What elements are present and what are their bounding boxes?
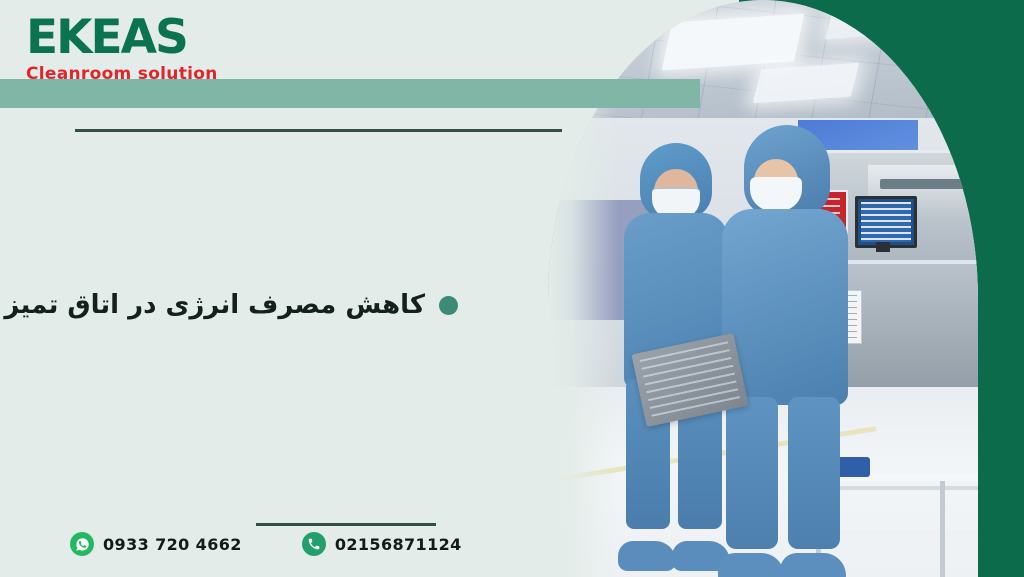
footer-contacts: 0933 720 4662 02156871124 <box>70 532 540 556</box>
worker-shoe-cover <box>780 553 846 577</box>
header-divider-rule <box>75 129 562 132</box>
bench-leg <box>940 481 945 577</box>
page-title: کاهش مصرف انرژی در اتاق تمیز <box>28 286 458 324</box>
poster-canvas: EKEAS Cleanroom solution کاهش مصرف انرژی… <box>0 0 1024 577</box>
logo-wordmark: EKEAS <box>26 14 256 61</box>
ceiling-light <box>662 14 805 71</box>
worker-leg <box>788 397 840 549</box>
phone-number: 02156871124 <box>335 535 462 554</box>
footer-divider-rule <box>256 523 436 526</box>
logo-wordmark-text: EKEAS <box>26 10 187 65</box>
contact-whatsapp[interactable]: 0933 720 4662 <box>70 532 242 556</box>
phone-icon[interactable] <box>302 532 326 556</box>
page-title-text: کاهش مصرف انرژی در اتاق تمیز <box>4 286 425 324</box>
worker-shoe-cover <box>618 541 676 571</box>
worker-leg <box>726 397 778 549</box>
whatsapp-number: 0933 720 4662 <box>103 535 242 554</box>
worker-shoe-cover <box>718 553 784 577</box>
logo-tagline: Cleanroom solution <box>26 63 256 85</box>
machine-monitor <box>855 196 917 248</box>
brand-logo[interactable]: EKEAS Cleanroom solution <box>26 14 256 85</box>
monitor-stand <box>876 242 890 252</box>
worker-right <box>718 125 858 575</box>
whatsapp-icon[interactable] <box>70 532 94 556</box>
contact-phone[interactable]: 02156871124 <box>302 532 462 556</box>
bullet-dot-icon <box>439 296 458 315</box>
